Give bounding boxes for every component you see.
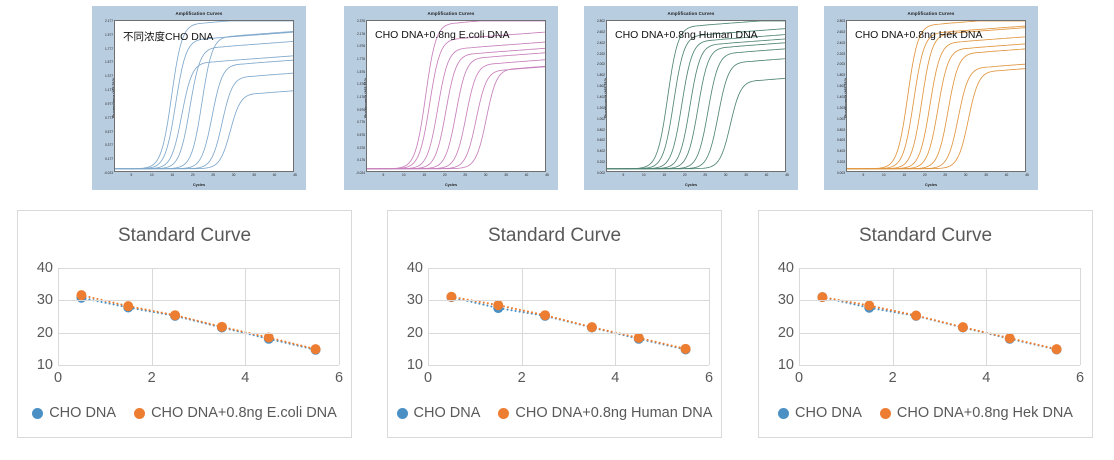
grid-line-vertical <box>1080 268 1081 365</box>
amplification-y-tick: 2.402 <box>597 41 605 45</box>
amplification-curve <box>847 49 1025 169</box>
grid-line-horizontal <box>428 268 709 269</box>
y-axis-tick-label: 20 <box>778 325 794 341</box>
amplification-x-tick: 25 <box>463 173 467 177</box>
grid-line-vertical <box>522 268 523 365</box>
x-axis-tick-label: 6 <box>705 370 713 386</box>
standard-curve-panel-human: Standard Curve 102030400246 CHO DNA CHO … <box>387 210 722 438</box>
legend-label: CHO DNA+0.8ng E.coli DNA <box>151 405 337 421</box>
grid-line-horizontal <box>799 300 1080 301</box>
amplification-x-tick: 15 <box>170 173 174 177</box>
amplification-annotation: 不同浓度CHO DNA <box>123 29 213 44</box>
amplification-y-tick: 1.802 <box>597 73 605 77</box>
amplification-y-tick: 2.202 <box>597 52 605 56</box>
amplification-y-tick: 0.003 <box>837 171 845 175</box>
y-axis-tick-label: 30 <box>407 292 423 308</box>
amplification-y-tick: 2.203 <box>837 52 845 56</box>
grid-line-horizontal <box>428 300 709 301</box>
x-axis-tick-label: 6 <box>1076 370 1084 386</box>
amplification-x-axis-label: Cycles <box>824 183 1038 187</box>
page-title: Standard Curve <box>18 225 351 247</box>
standard-curve-svg <box>428 268 709 365</box>
amplification-curve <box>607 49 785 169</box>
amplification-y-tick: 2.176 <box>357 32 365 36</box>
amplification-plot-area: CHO DNA+0.8ng Human DNA 0.0020.2020.4020… <box>606 20 786 172</box>
standard-curve-svg <box>58 268 339 365</box>
amplification-y-tick: 1.002 <box>597 117 605 121</box>
amplification-y-tick: 0.202 <box>597 160 605 164</box>
amplification-plot-area: CHO DNA+0.8ng Hek DNA 0.0030.2030.4030.6… <box>846 20 1026 172</box>
amplification-annotation: CHO DNA+0.8ng Hek DNA <box>855 29 983 41</box>
amplification-x-tick: 35 <box>252 173 256 177</box>
legend-item-cho[interactable]: CHO DNA <box>397 405 481 421</box>
amplification-y-tick: 0.577 <box>105 130 113 134</box>
x-axis-tick-label: 4 <box>982 370 990 386</box>
page-title: Standard Curve <box>759 225 1092 247</box>
amplification-curves-row: Amplification Curves Fluorescence (465-5… <box>0 0 1114 196</box>
standard-curve-panel-hek: Standard Curve 102030400246 CHO DNA CHO … <box>758 210 1093 438</box>
amplification-curve <box>367 42 545 169</box>
data-point[interactable] <box>587 322 597 332</box>
legend-label: CHO DNA+0.8ng Hek DNA <box>897 405 1073 421</box>
amplification-y-tick: 2.403 <box>837 41 845 45</box>
amplification-x-tick: 15 <box>422 173 426 177</box>
amplification-y-tick: 2.803 <box>837 19 845 23</box>
amplification-curve <box>367 66 545 168</box>
amplification-x-tick: 40 <box>765 173 769 177</box>
legend-label: CHO DNA+0.8ng Human DNA <box>515 405 712 421</box>
grid-line-vertical <box>339 268 340 365</box>
amplification-title: Amplification Curves <box>584 11 798 16</box>
amplification-y-tick: 1.202 <box>597 106 605 110</box>
amplification-x-tick: 15 <box>902 173 906 177</box>
x-axis-tick-label: 0 <box>54 370 62 386</box>
amplification-curve <box>607 78 785 168</box>
amplification-y-tick: 0.002 <box>597 171 605 175</box>
amplification-y-tick: -0.023 <box>104 171 113 175</box>
y-axis-tick-label: 40 <box>778 260 794 276</box>
legend-item-spiked[interactable]: CHO DNA+0.8ng Hek DNA <box>880 405 1073 421</box>
legend-item-cho[interactable]: CHO DNA <box>32 405 116 421</box>
grid-line-vertical <box>709 268 710 365</box>
amplification-y-tick: 0.802 <box>597 128 605 132</box>
amplification-y-tick: 2.002 <box>597 62 605 66</box>
grid-line-vertical <box>58 268 59 365</box>
trendline <box>451 297 685 349</box>
standard-curve-legend: CHO DNA CHO DNA+0.8ng E.coli DNA <box>18 405 351 421</box>
grid-line-vertical <box>799 268 800 365</box>
amplification-x-tick: 40 <box>1005 173 1009 177</box>
legend-dot-icon <box>498 408 509 419</box>
amplification-x-tick: 35 <box>984 173 988 177</box>
amplification-y-tick: 1.003 <box>837 117 845 121</box>
legend-label: CHO DNA <box>49 405 116 421</box>
amplification-y-tick: 1.203 <box>837 106 845 110</box>
data-point[interactable] <box>540 310 550 320</box>
amplification-x-tick: 40 <box>273 173 277 177</box>
amplification-y-tick: 1.777 <box>105 47 113 51</box>
amplification-y-tick: 0.576 <box>357 133 365 137</box>
amplification-curve <box>115 32 293 169</box>
amplification-title: Amplification Curves <box>344 11 558 16</box>
amplification-y-tick: 1.377 <box>105 74 113 78</box>
page-title: Standard Curve <box>388 225 721 247</box>
grid-line-vertical <box>152 268 153 365</box>
grid-line-vertical <box>245 268 246 365</box>
amplification-curve <box>847 28 1025 169</box>
amplification-y-tick: 1.803 <box>837 73 845 77</box>
amplification-y-tick: 0.203 <box>837 160 845 164</box>
amplification-y-tick: 0.777 <box>105 116 113 120</box>
standard-curve-plot-area: 102030400246 <box>799 268 1080 365</box>
legend-dot-icon <box>134 408 145 419</box>
data-point[interactable] <box>1052 344 1062 354</box>
grid-line-horizontal <box>58 300 339 301</box>
grid-line-vertical <box>893 268 894 365</box>
amplification-panel-human: Amplification Curves Fluorescence (465-5… <box>584 6 798 190</box>
amplification-y-tick: 0.776 <box>357 120 365 124</box>
amplification-x-tick: 5 <box>130 173 132 177</box>
amplification-y-tick: 1.576 <box>357 70 365 74</box>
amplification-panel-ecoli: Amplification Curves Fluorescence (465-5… <box>344 6 558 190</box>
amplification-panel-cho: Amplification Curves Fluorescence (465-5… <box>92 6 306 190</box>
y-axis-tick-label: 20 <box>407 325 423 341</box>
grid-line-horizontal <box>428 333 709 334</box>
amplification-x-tick: 5 <box>382 173 384 177</box>
data-point[interactable] <box>123 301 133 311</box>
x-axis-tick-label: 6 <box>335 370 343 386</box>
grid-line-horizontal <box>799 268 1080 269</box>
standard-curve-panel-ecoli: Standard Curve 102030400246 CHO DNA CHO … <box>17 210 352 438</box>
standard-curve-legend: CHO DNA CHO DNA+0.8ng Human DNA <box>388 405 721 421</box>
amplification-x-tick: 20 <box>443 173 447 177</box>
standard-curves-row: Standard Curve 102030400246 CHO DNA CHO … <box>0 210 1114 460</box>
amplification-title: Amplification Curves <box>824 11 1038 16</box>
standard-curve-svg <box>799 268 1080 365</box>
amplification-x-tick: 45 <box>293 173 297 177</box>
data-point[interactable] <box>864 301 874 311</box>
data-point[interactable] <box>958 322 968 332</box>
amplification-x-tick: 25 <box>703 173 707 177</box>
amplification-y-tick: 1.403 <box>837 95 845 99</box>
amplification-x-tick: 35 <box>504 173 508 177</box>
data-point[interactable] <box>634 333 644 343</box>
data-point[interactable] <box>217 322 227 332</box>
amplification-curve <box>115 56 293 169</box>
standard-curve-legend: CHO DNA CHO DNA+0.8ng Hek DNA <box>759 405 1092 421</box>
x-axis-tick-label: 4 <box>241 370 249 386</box>
amplification-curve <box>607 35 785 169</box>
amplification-y-tick: 1.577 <box>105 60 113 64</box>
legend-dot-icon <box>880 408 891 419</box>
amplification-x-tick: 30 <box>232 173 236 177</box>
amplification-plot-area: 不同浓度CHO DNA -0.0230.1770.3770.5770.7770.… <box>114 20 294 172</box>
grid-line-vertical <box>986 268 987 365</box>
amplification-curve <box>607 29 785 169</box>
y-axis-tick-label: 40 <box>37 260 53 276</box>
x-axis-tick-label: 0 <box>424 370 432 386</box>
amplification-y-tick: 1.602 <box>597 84 605 88</box>
x-axis-tick-label: 0 <box>795 370 803 386</box>
amplification-curves-svg <box>367 21 545 171</box>
amplification-x-tick: 45 <box>785 173 789 177</box>
amplification-y-tick: 2.177 <box>105 19 113 23</box>
amplification-y-tick: 0.602 <box>597 138 605 142</box>
legend-label: CHO DNA <box>414 405 481 421</box>
standard-curve-plot-area: 102030400246 <box>428 268 709 365</box>
amplification-curve <box>367 67 545 169</box>
amplification-y-tick: 1.176 <box>357 95 365 99</box>
amplification-x-tick: 20 <box>923 173 927 177</box>
data-point[interactable] <box>311 344 321 354</box>
amplification-curve <box>847 21 1025 169</box>
amplification-y-tick: 0.603 <box>837 138 845 142</box>
amplification-curve <box>607 21 785 169</box>
amplification-y-tick: 2.003 <box>837 62 845 66</box>
amplification-y-tick: 0.403 <box>837 149 845 153</box>
amplification-y-tick: 1.376 <box>357 82 365 86</box>
amplification-x-axis-label: Cycles <box>584 183 798 187</box>
data-point[interactable] <box>681 344 691 354</box>
amplification-x-tick: 10 <box>402 173 406 177</box>
amplification-y-tick: 0.977 <box>105 102 113 106</box>
amplification-x-tick: 45 <box>545 173 549 177</box>
amplification-x-tick: 15 <box>662 173 666 177</box>
amplification-curve <box>367 32 545 169</box>
amplification-y-tick: 1.402 <box>597 95 605 99</box>
trendline <box>81 298 315 350</box>
y-axis-tick-label: 10 <box>407 357 423 373</box>
data-point[interactable] <box>170 310 180 320</box>
amplification-curves-svg <box>607 21 785 171</box>
x-axis-tick-label: 2 <box>148 370 156 386</box>
standard-curve-plot-area: 102030400246 <box>58 268 339 365</box>
amplification-x-tick: 10 <box>882 173 886 177</box>
legend-dot-icon <box>778 408 789 419</box>
amplification-x-tick: 10 <box>150 173 154 177</box>
amplification-x-tick: 35 <box>744 173 748 177</box>
data-point[interactable] <box>493 300 503 310</box>
grid-line-horizontal <box>428 365 709 366</box>
amplification-x-tick: 25 <box>943 173 947 177</box>
amplification-y-tick: 0.402 <box>597 149 605 153</box>
amplification-y-tick: -0.024 <box>356 171 365 175</box>
grid-line-horizontal <box>58 365 339 366</box>
amplification-curve <box>115 31 293 168</box>
y-axis-tick-label: 40 <box>407 260 423 276</box>
amplification-curve <box>115 60 293 169</box>
data-point[interactable] <box>76 290 86 300</box>
amplification-x-tick: 5 <box>622 173 624 177</box>
amplification-y-tick: 1.976 <box>357 44 365 48</box>
grid-line-horizontal <box>58 268 339 269</box>
amplification-x-tick: 45 <box>1025 173 1029 177</box>
amplification-y-tick: 2.603 <box>837 30 845 34</box>
legend-label: CHO DNA <box>795 405 862 421</box>
amplification-y-tick: 2.376 <box>357 19 365 23</box>
amplification-y-tick: 1.177 <box>105 88 113 92</box>
legend-item-spiked[interactable]: CHO DNA+0.8ng E.coli DNA <box>134 405 337 421</box>
amplification-curve <box>607 39 785 169</box>
trendline <box>822 297 1056 349</box>
grid-line-vertical <box>428 268 429 365</box>
amplification-curve <box>607 43 785 169</box>
y-axis-tick-label: 30 <box>37 292 53 308</box>
legend-item-spiked[interactable]: CHO DNA+0.8ng Human DNA <box>498 405 712 421</box>
amplification-annotation: CHO DNA+0.8ng Human DNA <box>615 29 758 41</box>
trendline <box>451 297 685 349</box>
legend-item-cho[interactable]: CHO DNA <box>778 405 862 421</box>
amplification-curve <box>115 91 293 169</box>
amplification-curve <box>367 21 545 169</box>
amplification-curve <box>847 26 1025 169</box>
amplification-y-tick: 0.976 <box>357 108 365 112</box>
x-axis-tick-label: 4 <box>611 370 619 386</box>
amplification-x-tick: 20 <box>683 173 687 177</box>
legend-dot-icon <box>397 408 408 419</box>
amplification-x-tick: 20 <box>191 173 195 177</box>
amplification-x-axis-label: Cycles <box>344 183 558 187</box>
amplification-curve <box>367 53 545 169</box>
amplification-x-axis-label: Cycles <box>92 183 306 187</box>
y-axis-tick-label: 10 <box>37 357 53 373</box>
amplification-y-tick: 0.377 <box>105 143 113 147</box>
amplification-panel-hek: Amplification Curves Fluorescence (465-5… <box>824 6 1038 190</box>
amplification-x-tick: 30 <box>484 173 488 177</box>
amplification-x-tick: 30 <box>724 173 728 177</box>
amplification-y-tick: 0.376 <box>357 146 365 150</box>
amplification-x-tick: 10 <box>642 173 646 177</box>
amplification-y-tick: 2.602 <box>597 30 605 34</box>
data-point[interactable] <box>264 333 274 343</box>
amplification-y-tick: 1.977 <box>105 33 113 37</box>
grid-line-vertical <box>615 268 616 365</box>
data-point[interactable] <box>1005 333 1015 343</box>
y-axis-tick-label: 10 <box>778 357 794 373</box>
x-axis-tick-label: 2 <box>518 370 526 386</box>
amplification-plot-area: CHO DNA+0.8ng E.coli DNA -0.0240.1760.37… <box>366 20 546 172</box>
amplification-y-tick: 0.177 <box>105 157 113 161</box>
amplification-title: Amplification Curves <box>92 11 306 16</box>
amplification-x-tick: 30 <box>964 173 968 177</box>
amplification-y-tick: 1.776 <box>357 57 365 61</box>
amplification-y-tick: 0.803 <box>837 128 845 132</box>
amplification-curve <box>367 48 545 168</box>
x-axis-tick-label: 2 <box>889 370 897 386</box>
amplification-x-tick: 25 <box>211 173 215 177</box>
amplification-curve <box>847 37 1025 169</box>
data-point[interactable] <box>911 311 921 321</box>
amplification-curves-svg <box>847 21 1025 171</box>
amplification-y-tick: 0.176 <box>357 158 365 162</box>
legend-dot-icon <box>32 408 43 419</box>
y-axis-tick-label: 30 <box>778 292 794 308</box>
amplification-x-tick: 5 <box>862 173 864 177</box>
y-axis-tick-label: 20 <box>37 325 53 341</box>
amplification-y-tick: 2.802 <box>597 19 605 23</box>
grid-line-horizontal <box>799 333 1080 334</box>
amplification-x-tick: 40 <box>525 173 529 177</box>
grid-line-horizontal <box>58 333 339 334</box>
amplification-curve <box>847 44 1025 169</box>
amplification-curve <box>847 64 1025 169</box>
grid-line-horizontal <box>799 365 1080 366</box>
amplification-y-tick: 1.603 <box>837 84 845 88</box>
amplification-annotation: CHO DNA+0.8ng E.coli DNA <box>375 29 510 41</box>
